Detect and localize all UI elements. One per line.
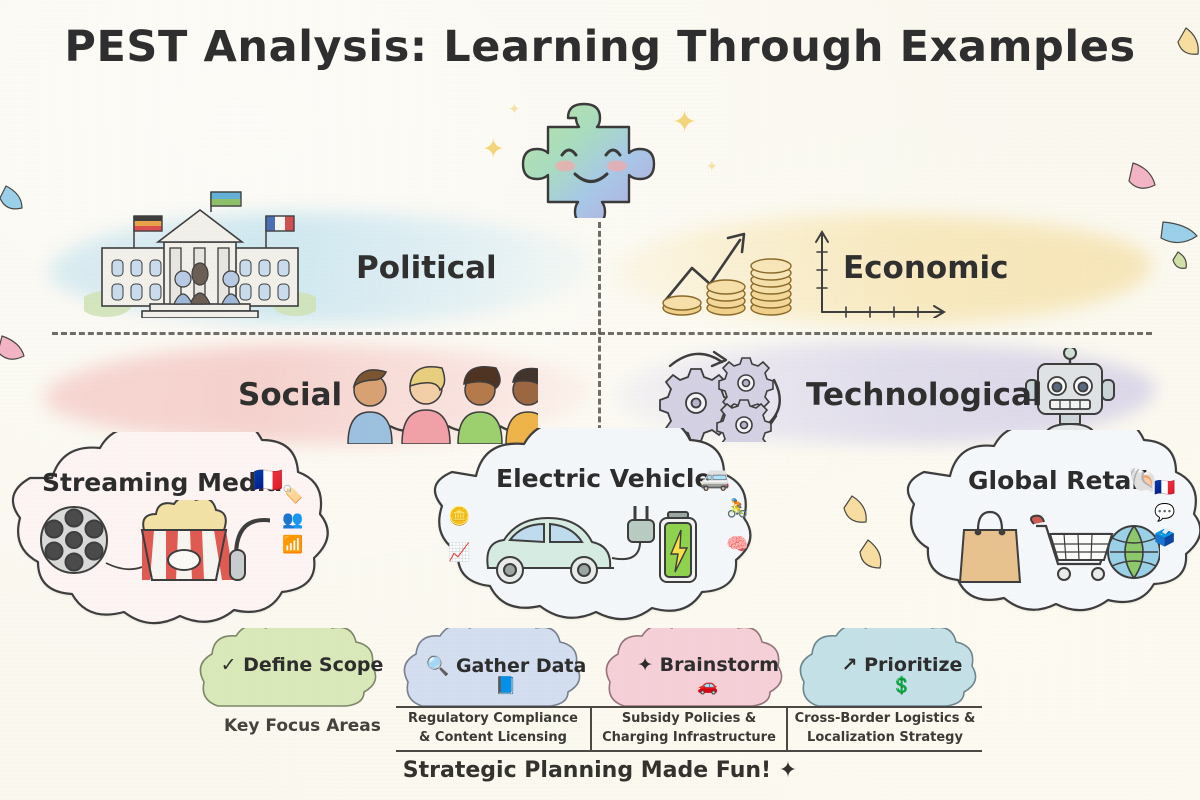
green-van-icon: 🚐 (700, 466, 730, 490)
quadrant-label-technological: Technological (806, 377, 1043, 413)
page-title: PEST Analysis: Learning Through Examples (0, 22, 1200, 72)
step-label: ✦ Brainstorm (602, 654, 814, 676)
streaming-media-icons (34, 500, 270, 582)
step-prioritize[interactable]: ↗ Prioritize 💲 (796, 628, 1008, 712)
cyclist-icon: 🚴 (726, 500, 748, 518)
quadrant-label-social: Social (238, 377, 342, 413)
step-label: 🔍 Gather Data (400, 654, 612, 677)
ballot-box-icon: 🗳️ (1154, 530, 1175, 547)
search-icon: 🔍 (426, 655, 450, 677)
footer-tagline: Strategic Planning Made Fun! ✦ (0, 758, 1200, 783)
example-title-global-retail: Global Retail (968, 466, 1148, 495)
global-retail-icons (952, 500, 1160, 586)
speech-bubble-icon: 💬 (1154, 505, 1175, 522)
infographic-canvas: PEST Analysis: Learning Through Examples… (0, 0, 1200, 800)
coin-icon: 🪙 (448, 508, 470, 526)
government-building-icon (84, 186, 316, 318)
step-brainstorm[interactable]: ✦ Brainstorm 🚗 (602, 628, 814, 712)
puzzle-piece-icon (520, 98, 680, 218)
mascot-puzzle-piece: ✦ ✦ ✦ ✦ (520, 98, 680, 218)
key-focus-cell-economic: Subsidy Policies & Charging Infrastructu… (590, 708, 786, 750)
chart-icon: 📈 (448, 544, 470, 562)
example-title-streaming-media: Streaming Media (42, 468, 282, 497)
france-flag-icon: 🇫🇷 (253, 468, 283, 492)
example-title-electric-vehicles: Electric Vehicles (496, 464, 726, 493)
process-steps: ✓ Define Scope 🔍 Gather Data 📘 ✦ Brainst… (196, 628, 1008, 714)
quadrant-divider-horizontal (52, 332, 1152, 335)
streaming-media-mini-icons: 🏷️ 👥 📶 (282, 487, 303, 554)
price-tag-icon: 🏷️ (282, 487, 303, 504)
step-define-scope[interactable]: ✓ Define Scope (196, 628, 408, 712)
ai-chip-icon: 🧠 (726, 536, 748, 554)
quadrant-label-economic: Economic (843, 250, 1009, 286)
step-label: ✓ Define Scope (196, 654, 408, 676)
step-sub-icon: 📘 (400, 678, 612, 695)
france-flag-icon: 🇫🇷 (1154, 480, 1175, 497)
quadrant-label-political: Political (356, 250, 497, 286)
wifi-icon: 📶 (282, 537, 303, 554)
arrow-up-right-icon: ↗ (842, 654, 858, 676)
electric-vehicle-side-icons-right: 🚴 🧠 (726, 500, 748, 554)
check-icon: ✓ (221, 654, 237, 676)
quadrant-divider-vertical (598, 222, 601, 440)
sparkle-icon: ✦ (637, 654, 653, 676)
sparkle-icon: ✦ (508, 102, 521, 117)
sparkle-icon: ✦ (706, 160, 718, 174)
step-sub-icon: 💲 (796, 678, 1008, 695)
key-focus-areas-label: Key Focus Areas (224, 716, 381, 736)
sparkle-icon: ✦ (482, 136, 505, 163)
step-label: ↗ Prioritize (796, 654, 1008, 676)
step-gather-data[interactable]: 🔍 Gather Data 📘 (400, 628, 612, 712)
step-sub-icon: 🚗 (602, 678, 814, 695)
coin-growth-icon (658, 222, 808, 318)
electric-vehicle-side-icons-left: 🪙 📈 (448, 508, 470, 562)
global-retail-mini-icons: 🇫🇷 💬 🗳️ (1154, 480, 1175, 547)
key-focus-cell-political: Regulatory Compliance & Content Licensin… (396, 708, 590, 750)
key-focus-areas-table: Regulatory Compliance & Content Licensin… (396, 706, 982, 752)
people-icon: 👥 (282, 512, 303, 529)
sparkle-icon: ✦ (672, 108, 697, 138)
electric-vehicle-icons (450, 498, 732, 590)
key-focus-cell-technological: Cross-Border Logistics & Localization St… (786, 708, 982, 750)
